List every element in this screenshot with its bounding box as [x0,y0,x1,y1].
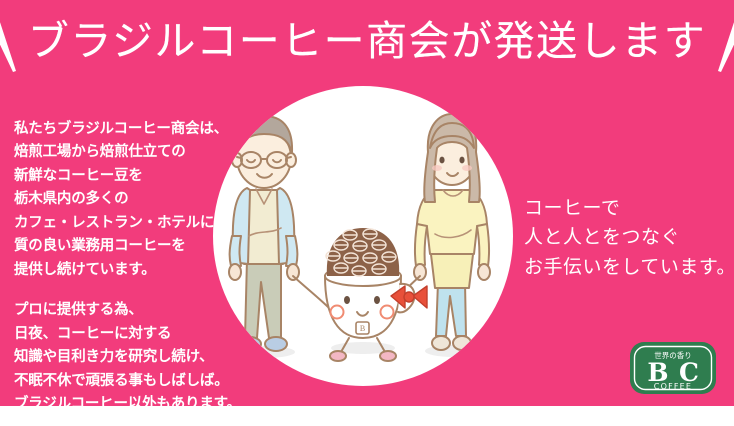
right-copy-line-3: お手伝いをしています。 [524,253,729,282]
left-p1-line-2: 焙煎工場から焙煎仕立ての [14,141,244,164]
left-p2-line-3: 知識や目利き力を研究し続け、 [14,346,244,369]
left-p2-line-4: 不眠不休で頑張る事もしばしば。 [14,370,244,393]
left-p2-line-2: 日夜、コーヒーに対する [14,323,244,346]
figure-coffee-cup-mascot: B [325,228,427,361]
woman-eye-right [459,157,464,164]
left-p1-line-3: 新鮮なコーヒー豆を [14,165,244,188]
backslash-mark-icon [0,7,22,75]
bc-coffee-logo: 世界の香り B C COFFEE [629,341,717,395]
figure-young-woman [414,114,490,350]
left-p2-line-5: ブラジルコーヒー以外もあります。 [14,393,244,416]
headline-row: ブラジルコーヒー商会が発送します [0,4,734,78]
right-copy-line-2: 人と人とをつなぐ [524,223,729,252]
headline-text: ブラジルコーヒー商会が発送します [28,21,706,62]
left-p1-line-7: 提供し続けています。 [14,259,244,282]
illustration-couple-and-mascot: .ol { stroke:#a88466; stroke-width:2; st… [213,86,513,386]
left-p1-line-6: 質の良い業務用コーヒーを [14,235,244,258]
woman-eye-left [439,157,444,164]
left-copy-block: 私たちブラジルコーヒー商会は、 焙煎工場から焙煎仕立ての 新鮮なコーヒー豆を 栃… [14,118,244,417]
mascot-eye-right [374,296,380,304]
logo-wordmark: COFFEE [654,382,692,391]
promo-banner: ブラジルコーヒー商会が発送します .ol { stroke:#a88466; s… [0,0,734,426]
left-paragraph-1: 私たちブラジルコーヒー商会は、 焙煎工場から焙煎仕立ての 新鮮なコーヒー豆を 栃… [14,118,244,282]
slash-mark-icon [712,7,734,75]
right-copy-line-1: コーヒーで [524,194,729,223]
illustration-circle: .ol { stroke:#a88466; stroke-width:2; st… [213,86,513,386]
paragraph-spacer [14,282,244,299]
left-paragraph-2: プロに提供する為、 日夜、コーヒーに対する 知識や目利き力を研究し続け、 不眠不… [14,299,244,416]
left-p1-line-1: 私たちブラジルコーヒー商会は、 [14,118,244,141]
left-p1-line-5: カフェ・レストラン・ホテルに [14,212,244,235]
svg-text:B: B [360,324,365,333]
left-p1-line-4: 栃木県内の多くの [14,188,244,211]
right-copy-block: コーヒーで 人と人とをつなぐ お手伝いをしています。 [524,194,729,282]
mascot-eye-left [344,296,350,304]
link-man-to-mascot [293,276,329,308]
left-p2-line-1: プロに提供する為、 [14,299,244,322]
